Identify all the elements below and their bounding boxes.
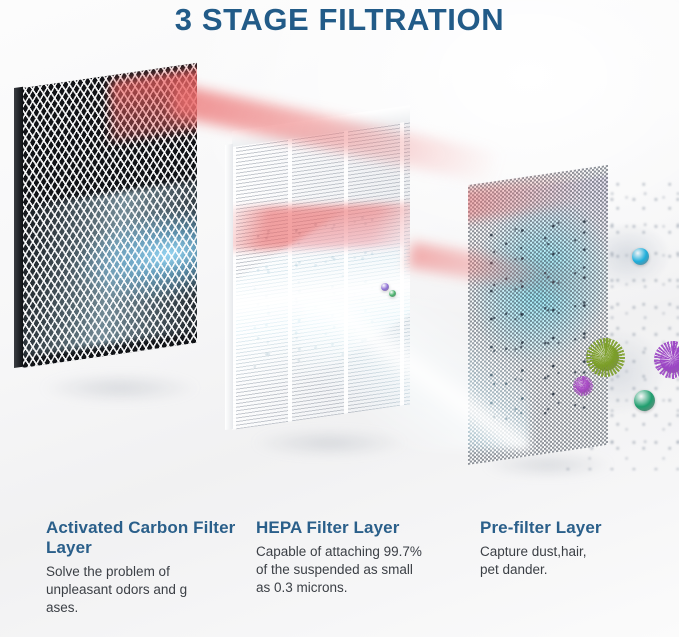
caption-pre-filter: Pre-filter Layer Capture dust,hair, pet …: [480, 518, 675, 579]
caption-row: Activated Carbon Filter Layer Solve the …: [0, 518, 679, 637]
airflow-beam-cyan: [300, 300, 530, 450]
teal-particle: [634, 390, 655, 411]
violet-speck: [381, 283, 389, 291]
infographic-canvas: 3 STAGE FILTRATION Activated Carbon Filt…: [0, 0, 679, 637]
caption-heading-hepa: HEPA Filter Layer: [256, 518, 466, 538]
carbon-side-edge: [14, 87, 23, 368]
caption-hepa: HEPA Filter Layer Capable of attaching 9…: [256, 518, 466, 597]
caption-activated-carbon: Activated Carbon Filter Layer Solve the …: [46, 518, 246, 617]
caption-body-pre-filter: Capture dust,hair, pet dander.: [480, 543, 675, 579]
caption-heading-activated-carbon: Activated Carbon Filter Layer: [46, 518, 246, 558]
title-container: 3 STAGE FILTRATION: [0, 0, 679, 38]
green-speck: [389, 290, 396, 297]
carbon-floor-shadow: [10, 368, 230, 408]
small-purple-particle: [576, 379, 590, 393]
caption-heading-pre-filter: Pre-filter Layer: [480, 518, 675, 538]
purple-virus: [660, 347, 679, 373]
caption-body-hepa: Capable of attaching 99.7% of the suspen…: [256, 543, 466, 597]
green-virus: [592, 344, 619, 371]
blue-particle: [632, 248, 649, 265]
hepa-side-edge: [225, 144, 233, 430]
carbon-blue-glow: [22, 175, 197, 359]
caption-body-activated-carbon: Solve the problem of unpleasant odors an…: [46, 563, 246, 617]
page-title: 3 STAGE FILTRATION: [0, 2, 679, 38]
